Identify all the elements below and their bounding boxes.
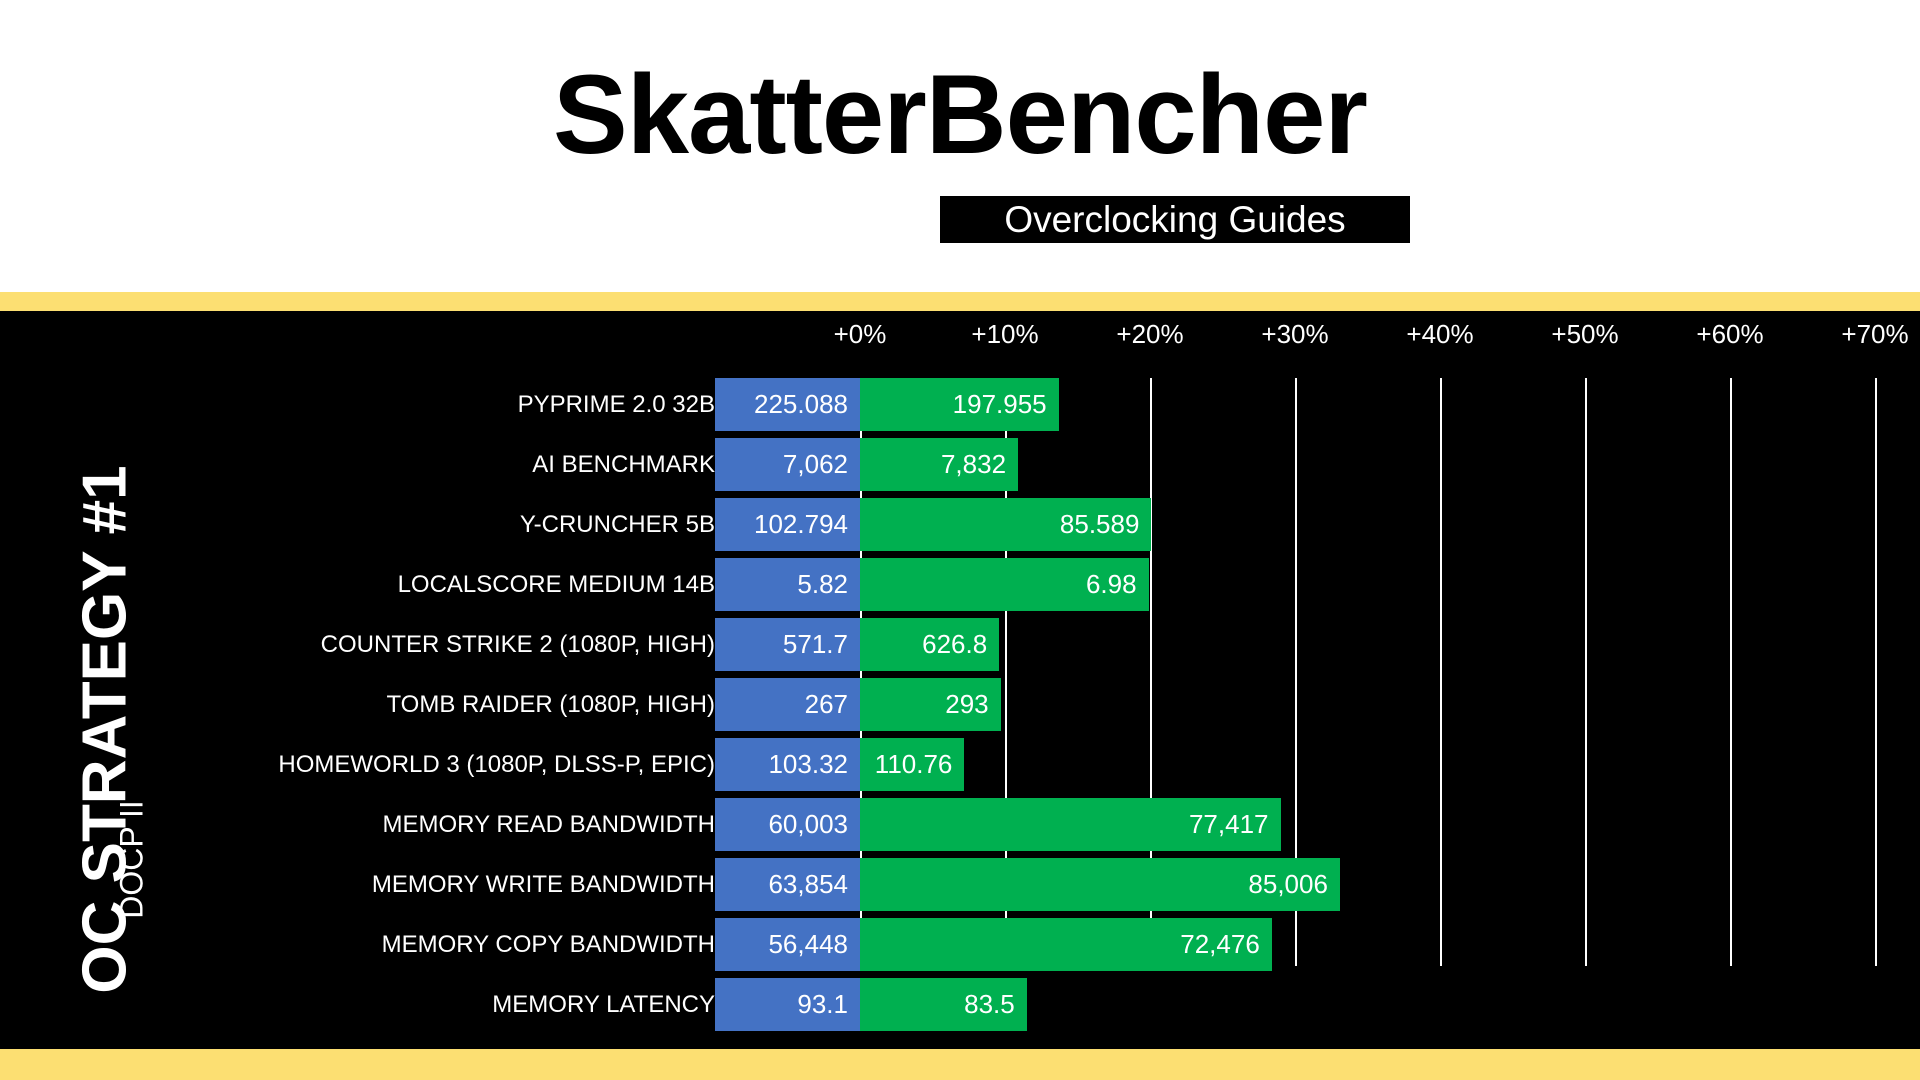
overclock-bar-value: 7,832: [941, 449, 1018, 480]
chart-row-label: TOMB RAIDER (1080P, HIGH): [386, 691, 715, 719]
chart-row: MEMORY READ BANDWIDTH60,00377,417: [0, 798, 1920, 851]
baseline-bar: 267: [715, 678, 860, 731]
brand-title: SkatterBencher: [0, 52, 1920, 177]
overclock-bar: 85.589: [860, 498, 1151, 551]
baseline-bar: 571.7: [715, 618, 860, 671]
overclock-bar: 6.98: [860, 558, 1149, 611]
chart-row-label: MEMORY COPY BANDWIDTH: [382, 931, 715, 959]
chart-row: MEMORY LATENCY93.183.5: [0, 978, 1920, 1031]
chart-row-label: Y-CRUNCHER 5B: [520, 511, 715, 539]
overclock-bar-value: 85.589: [1060, 509, 1152, 540]
overclock-bar-value: 6.98: [1086, 569, 1149, 600]
overclock-bar-value: 85,006: [1248, 869, 1340, 900]
baseline-bar: 93.1: [715, 978, 860, 1031]
chart-row: TOMB RAIDER (1080P, HIGH)267293: [0, 678, 1920, 731]
overclock-bar-value: 72,476: [1180, 929, 1272, 960]
chart-row: MEMORY COPY BANDWIDTH56,44872,476: [0, 918, 1920, 971]
chart-row-label: MEMORY WRITE BANDWIDTH: [372, 871, 715, 899]
overclock-bar: 626.8: [860, 618, 999, 671]
overclock-bar: 72,476: [860, 918, 1272, 971]
overclock-bar: 197.955: [860, 378, 1059, 431]
baseline-bar-value: 7,062: [783, 449, 860, 480]
baseline-bar-value: 63,854: [768, 869, 860, 900]
chart-row-label: HOMEWORLD 3 (1080P, DLSS-P, EPIC): [278, 751, 715, 779]
chart-row: COUNTER STRIKE 2 (1080P, HIGH)571.7626.8: [0, 618, 1920, 671]
brand-subtitle-banner: Overclocking Guides: [940, 196, 1410, 243]
baseline-bar-value: 571.7: [783, 629, 860, 660]
accent-band-bottom: [0, 1049, 1920, 1080]
baseline-bar-value: 56,448: [768, 929, 860, 960]
overclock-bar: 85,006: [860, 858, 1340, 911]
chart-row: MEMORY WRITE BANDWIDTH63,85485,006: [0, 858, 1920, 911]
chart-row: AI BENCHMARK7,0627,832: [0, 438, 1920, 491]
baseline-bar-value: 102.794: [754, 509, 860, 540]
overclock-bar: 7,832: [860, 438, 1018, 491]
overclock-bar-value: 293: [945, 689, 1000, 720]
overclock-bar-value: 83.5: [964, 989, 1027, 1020]
chart-row-label: PYPRIME 2.0 32B: [518, 391, 715, 419]
chart-row: HOMEWORLD 3 (1080P, DLSS-P, EPIC)103.321…: [0, 738, 1920, 791]
baseline-bar-value: 225.088: [754, 389, 860, 420]
overclock-bar: 83.5: [860, 978, 1027, 1031]
baseline-bar: 225.088: [715, 378, 860, 431]
chart-row: PYPRIME 2.0 32B225.088197.955: [0, 378, 1920, 431]
accent-band-top: [0, 292, 1920, 311]
baseline-bar: 60,003: [715, 798, 860, 851]
baseline-bar: 7,062: [715, 438, 860, 491]
overclock-bar: 110.76: [860, 738, 964, 791]
overclock-bar-value: 110.76: [875, 749, 965, 780]
chart-row-label: MEMORY LATENCY: [492, 991, 715, 1019]
overclock-bar-value: 77,417: [1189, 809, 1281, 840]
overclock-bar: 77,417: [860, 798, 1281, 851]
infographic-root: SkatterBencher Overclocking Guides OC ST…: [0, 0, 1920, 1080]
chart-row: Y-CRUNCHER 5B102.79485.589: [0, 498, 1920, 551]
baseline-bar: 103.32: [715, 738, 860, 791]
chart-row-label: MEMORY READ BANDWIDTH: [383, 811, 715, 839]
baseline-bar: 63,854: [715, 858, 860, 911]
overclock-bar-value: 626.8: [922, 629, 999, 660]
chart-row-label: COUNTER STRIKE 2 (1080P, HIGH): [321, 631, 715, 659]
overclock-bar-value: 197.955: [953, 389, 1059, 420]
header: SkatterBencher Overclocking Guides: [0, 0, 1920, 292]
baseline-bar-value: 60,003: [768, 809, 860, 840]
baseline-bar: 102.794: [715, 498, 860, 551]
baseline-bar: 5.82: [715, 558, 860, 611]
chart-row-label: LOCALSCORE MEDIUM 14B: [398, 571, 715, 599]
overclock-bar: 293: [860, 678, 1001, 731]
chart-panel: OC STRATEGY #1 DOCP II +0%+10%+20%+30%+4…: [0, 311, 1920, 1049]
baseline-bar-value: 93.1: [797, 989, 860, 1020]
chart-plot-area: PYPRIME 2.0 32B225.088197.955AI BENCHMAR…: [0, 311, 1920, 1049]
baseline-bar-value: 267: [805, 689, 860, 720]
baseline-bar: 56,448: [715, 918, 860, 971]
brand-subtitle: Overclocking Guides: [1004, 199, 1345, 241]
baseline-bar-value: 5.82: [797, 569, 860, 600]
baseline-bar-value: 103.32: [768, 749, 860, 780]
chart-row-label: AI BENCHMARK: [532, 451, 715, 479]
chart-row: LOCALSCORE MEDIUM 14B5.826.98: [0, 558, 1920, 611]
